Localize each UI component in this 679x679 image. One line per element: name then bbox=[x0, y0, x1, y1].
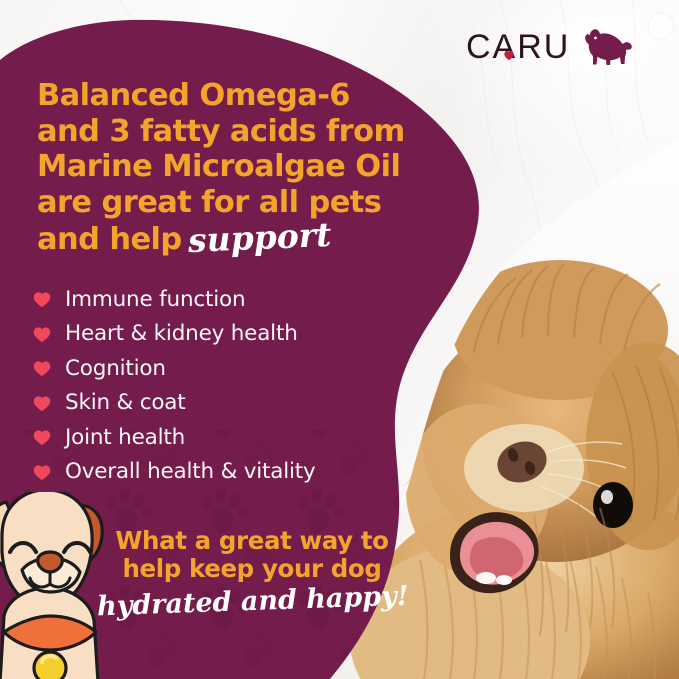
heart-icon bbox=[33, 429, 51, 446]
logo-word-text: CARU bbox=[466, 28, 570, 66]
headline-line-3: Marine Microalgae Oil bbox=[37, 149, 437, 185]
heart-icon bbox=[33, 360, 51, 377]
list-item-label: Skin & coat bbox=[65, 392, 186, 414]
heart-icon bbox=[33, 326, 51, 343]
logo-wordmark: CARU bbox=[466, 30, 570, 64]
call-to-action: What a great way to help keep your dog h… bbox=[97, 527, 407, 617]
headline-line-5-text: and help bbox=[37, 222, 182, 257]
list-item: Heart & kidney health bbox=[33, 317, 423, 352]
list-item-label: Heart & kidney health bbox=[65, 323, 298, 345]
cta-script-line: hydrated and happy! bbox=[97, 582, 408, 623]
headline-line-5: and helpsupport bbox=[37, 220, 437, 258]
heart-icon bbox=[33, 291, 51, 308]
benefits-list: Immune function Heart & kidney health Co… bbox=[33, 282, 423, 489]
dog-silhouette-icon bbox=[576, 26, 634, 68]
headline-line-2: and 3 fatty acids from bbox=[37, 114, 437, 150]
list-item-label: Cognition bbox=[65, 358, 166, 380]
cartoon-dog-illustration bbox=[0, 492, 120, 679]
list-item: Skin & coat bbox=[33, 386, 423, 421]
list-item: Immune function bbox=[33, 282, 423, 317]
cta-line-1: What a great way to bbox=[97, 527, 407, 555]
list-item: Overall health & vitality bbox=[33, 455, 423, 490]
product-infographic: CARU Balanced Omega-6 and 3 fatty acids … bbox=[0, 0, 679, 679]
headline-line-4: are great for all pets bbox=[37, 185, 437, 221]
headline: Balanced Omega-6 and 3 fatty acids from … bbox=[37, 78, 437, 258]
heart-icon bbox=[502, 48, 516, 62]
heart-icon bbox=[33, 395, 51, 412]
list-item-label: Joint health bbox=[65, 427, 185, 449]
list-item: Joint health bbox=[33, 420, 423, 455]
list-item: Cognition bbox=[33, 351, 423, 386]
heart-icon bbox=[33, 464, 51, 481]
headline-script-word: support bbox=[187, 217, 332, 259]
list-item-label: Immune function bbox=[65, 289, 245, 311]
list-item-label: Overall health & vitality bbox=[65, 461, 316, 483]
caru-logo[interactable]: CARU bbox=[466, 22, 644, 72]
headline-line-1: Balanced Omega-6 bbox=[37, 78, 437, 114]
cta-line-2: help keep your dog bbox=[97, 555, 407, 583]
